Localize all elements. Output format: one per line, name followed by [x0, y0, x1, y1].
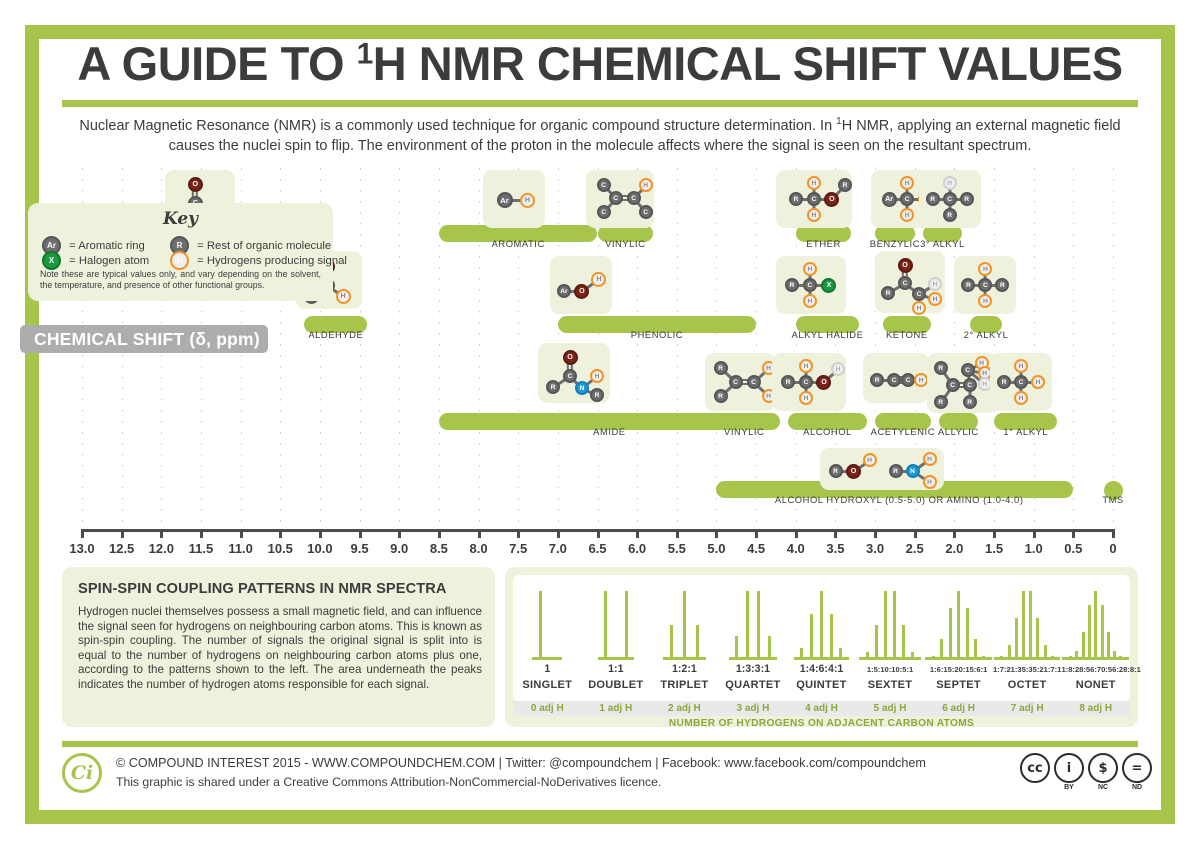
- peak-line: [1015, 618, 1018, 659]
- peak-line: [539, 591, 542, 659]
- peak-line: [1008, 645, 1011, 659]
- atom-c: C: [978, 278, 992, 292]
- peak-line: [884, 591, 887, 659]
- multiplet-singlet: 1SINGLET: [513, 575, 582, 701]
- peak-line: [1075, 651, 1078, 659]
- peak-line: [875, 625, 878, 659]
- atom-r: R: [995, 278, 1009, 292]
- atom-o: O: [816, 375, 831, 390]
- key-note: Note these are typical values only, and …: [40, 269, 321, 291]
- multiplet-name: OCTET: [993, 679, 1062, 691]
- axis-tick-label: 8.0: [459, 541, 499, 556]
- peak-line: [949, 608, 952, 659]
- axis-tick: [279, 529, 282, 538]
- atom-c: C: [729, 375, 743, 389]
- atom-h: H: [831, 362, 845, 376]
- atom-c: C: [887, 373, 901, 387]
- adjacent-h-row: 0 adj H1 adj H2 adj H3 adj H4 adj H5 adj…: [513, 701, 1130, 716]
- cc-badge-nc: $: [1088, 753, 1118, 783]
- coupling-text-panel: SPIN-SPIN COUPLING PATTERNS IN NMR SPECT…: [62, 567, 495, 727]
- multiplet-quintet: 1:4:6:4:1QUINTET: [787, 575, 856, 701]
- title-divider: [62, 100, 1138, 107]
- axis-tick-label: 8.5: [419, 541, 459, 556]
- multiplet-ratio: 1:5:10:10:5:1: [856, 665, 925, 674]
- multiplet-ratio: 1:2:1: [650, 663, 719, 675]
- atom-r: R: [943, 208, 957, 222]
- key-title: Key: [28, 209, 333, 229]
- adjacent-h-title: NUMBER OF HYDROGENS ON ADJACENT CARBON A…: [513, 718, 1130, 729]
- multiplet-septet: 1:6:15:20:15:6:1SEPTET: [924, 575, 993, 701]
- axis-tick: [953, 529, 956, 538]
- atom-c: C: [747, 375, 761, 389]
- atom-h: H: [803, 294, 817, 308]
- cc-badge-cc: cc: [1020, 753, 1050, 783]
- axis-tick: [517, 529, 520, 538]
- multiplet-name: SEXTET: [856, 679, 925, 691]
- atom-n: N: [575, 381, 589, 395]
- coupling-body: Hydrogen nuclei themselves possess a sma…: [78, 605, 482, 693]
- atom-r: R: [889, 464, 903, 478]
- gridline: [716, 168, 717, 523]
- peak-line: [982, 656, 985, 659]
- atom-r: R: [714, 389, 728, 403]
- atom-r: R: [838, 178, 852, 192]
- atom-h: H: [639, 178, 653, 192]
- peak-line: [1022, 591, 1025, 659]
- multiplet-doublet: 1:1DOUBLET: [582, 575, 651, 701]
- multiplet-peaks: [650, 589, 719, 659]
- gridline: [756, 168, 757, 523]
- atom-h: H: [978, 294, 992, 308]
- axis-tick-label: 7.0: [538, 541, 578, 556]
- atom-h: H: [900, 176, 914, 190]
- atom-r: R: [997, 375, 1011, 389]
- atom-c: C: [597, 178, 611, 192]
- axis-tick: [834, 529, 837, 538]
- atom-r: R: [963, 395, 977, 409]
- atom-o: O: [898, 258, 913, 273]
- axis-tick: [874, 529, 877, 538]
- gridline: [479, 168, 480, 523]
- molecule-alkyl-2: HRCRH: [954, 256, 1016, 314]
- atom-c: C: [799, 375, 813, 389]
- atom-o: O: [824, 192, 839, 207]
- atom-c: C: [961, 363, 975, 377]
- peak-line: [1029, 591, 1032, 659]
- multiplet-peaks: [719, 589, 788, 659]
- axis-tick-label: 10.5: [260, 541, 300, 556]
- axis-tick-label: 5.0: [696, 541, 736, 556]
- gridline: [399, 168, 400, 523]
- adjacent-h-count: 2 adj H: [650, 701, 719, 716]
- footer-licence: This graphic is shared under a Creative …: [116, 775, 1046, 789]
- atom-c: C: [639, 205, 653, 219]
- atom-h: H: [591, 272, 606, 287]
- atom-r: R: [934, 361, 948, 375]
- peak-line: [810, 614, 813, 659]
- multiplet-peaks: [856, 589, 925, 659]
- peak-line: [1000, 656, 1003, 659]
- range-label: 3° ALKYL: [822, 238, 1062, 249]
- atom-c: C: [901, 373, 915, 387]
- peak-line: [1082, 632, 1085, 659]
- axis-tick: [715, 529, 718, 538]
- molecule-alkyl-1: HRCHH: [990, 353, 1052, 411]
- atom-c: C: [912, 287, 926, 301]
- cc-badge-label: NC: [1088, 784, 1118, 791]
- atom-ar: Ar: [497, 192, 513, 208]
- molecule-vinylic-bottom: RCCHRH: [705, 353, 775, 411]
- multiplet-ratio: 1:6:15:20:15:6:1: [924, 665, 993, 674]
- axis-tick-label: 12.5: [102, 541, 142, 556]
- axis-tick: [478, 529, 481, 538]
- multiplicity-chart: 1SINGLET1:1DOUBLET1:2:1TRIPLET1:3:3:1QUA…: [513, 575, 1130, 701]
- multiplet-peaks: [787, 589, 856, 659]
- atom-h: H: [900, 208, 914, 222]
- atom-h: H: [520, 193, 535, 208]
- atom-r: R: [789, 192, 803, 206]
- axis-tick-label: 11.5: [181, 541, 221, 556]
- adjacent-h-count: 5 adj H: [856, 701, 925, 716]
- molecule-alkyl-3: HRCRR: [919, 170, 981, 228]
- atom-r: R: [934, 395, 948, 409]
- peak-line: [800, 648, 803, 659]
- multiplet-name: TRIPLET: [650, 679, 719, 691]
- atom-ar: Ar: [882, 192, 897, 207]
- multiplet-name: DOUBLET: [582, 679, 651, 691]
- axis-tick-label: 3.5: [815, 541, 855, 556]
- multiplet-triplet: 1:2:1TRIPLET: [650, 575, 719, 701]
- axis-tick-label: 5.5: [657, 541, 697, 556]
- axis-tick: [557, 529, 560, 538]
- peak-line: [957, 591, 960, 659]
- axis-tick: [914, 529, 917, 538]
- atom-c: C: [609, 191, 623, 205]
- adjacent-h-count: 8 adj H: [1061, 701, 1130, 716]
- gridline: [677, 168, 678, 523]
- atom-c: C: [597, 205, 611, 219]
- footer-credits: © COMPOUND INTEREST 2015 - WWW.COMPOUNDC…: [116, 756, 1046, 770]
- peak-line: [1044, 645, 1047, 659]
- atom-o: O: [563, 350, 578, 365]
- peak-line: [911, 652, 914, 659]
- molecule-alkyl-halide: HRCXH: [776, 256, 846, 314]
- atom-c: C: [963, 378, 977, 392]
- gridline: [360, 168, 361, 523]
- gridline: [1073, 168, 1074, 523]
- atom-r: R: [926, 192, 940, 206]
- peak-line: [735, 636, 738, 659]
- infographic-root: A GUIDE TO 1H NMR CHEMICAL SHIFT VALUES …: [0, 0, 1200, 849]
- atom-h: H: [807, 208, 821, 222]
- multiplet-quartet: 1:3:3:1QUARTET: [719, 575, 788, 701]
- coupling-heading: SPIN-SPIN COUPLING PATTERNS IN NMR SPECT…: [78, 581, 483, 597]
- peak-line: [974, 639, 977, 659]
- multiplet-peaks: [924, 589, 993, 659]
- multiplet-ratio: 1: [513, 663, 582, 675]
- peak-line: [902, 625, 905, 659]
- molecule-alcohol: HRCOHH: [772, 353, 846, 411]
- axis-tick-label: 1.0: [1014, 541, 1054, 556]
- peak-line: [1113, 651, 1116, 659]
- axis-tick: [398, 529, 401, 538]
- peak-line: [820, 591, 823, 659]
- axis-tick-label: 0: [1093, 541, 1133, 556]
- peak-line: [746, 591, 749, 659]
- axis-tick: [795, 529, 798, 538]
- axis-tick: [1033, 529, 1036, 538]
- cc-badge-by: i: [1054, 753, 1084, 783]
- multiplet-name: SINGLET: [513, 679, 582, 691]
- axis-tick: [1112, 529, 1115, 538]
- axis-tick: [438, 529, 441, 538]
- axis-tick: [319, 529, 322, 538]
- peak-line: [1036, 618, 1039, 659]
- molecule-aromatic: ArH: [483, 170, 545, 228]
- axis-tick-label: 4.5: [736, 541, 776, 556]
- tms-label: TMS: [1093, 494, 1133, 505]
- atom-r: R: [590, 388, 604, 402]
- axis-tick: [81, 529, 84, 538]
- peak-line: [966, 608, 969, 659]
- axis-tick-label: 10.0: [300, 541, 340, 556]
- axis-tick-label: 2.0: [934, 541, 974, 556]
- atom-h: H: [1031, 375, 1045, 389]
- axis-tick: [755, 529, 758, 538]
- peak-line: [893, 591, 896, 659]
- adjacent-h-count: 0 adj H: [513, 701, 582, 716]
- cc-badge-label: ND: [1122, 784, 1152, 791]
- key-label-hydrogen: = Hydrogens producing signal: [197, 255, 347, 267]
- molecule-allylic: RCCCRRHHH: [927, 353, 997, 413]
- axis-tick-label: 9.5: [340, 541, 380, 556]
- adjacent-h-count: 7 adj H: [993, 701, 1062, 716]
- atom-r: R: [960, 192, 974, 206]
- molecule-phenolic: ArOH: [550, 256, 612, 314]
- multiplet-peaks: [582, 589, 651, 659]
- peak-line: [1094, 591, 1097, 659]
- compound-interest-logo: Ci: [62, 753, 102, 793]
- axis-tick: [597, 529, 600, 538]
- peak-line: [696, 625, 699, 659]
- gridline: [994, 168, 995, 523]
- molecule-hydroxyl-amino: ROHRNHH: [820, 448, 944, 490]
- atom-c: C: [898, 276, 912, 290]
- axis-tick-label: 7.5: [498, 541, 538, 556]
- peak-line: [1107, 632, 1110, 659]
- gridline: [1034, 168, 1035, 523]
- atom-ar: Ar: [557, 284, 571, 298]
- adjacent-h-count: 3 adj H: [719, 701, 788, 716]
- peak-line: [1069, 656, 1072, 659]
- atom-h: H: [928, 277, 942, 291]
- multiplet-ratio: 1:1: [582, 663, 651, 675]
- atom-r: R: [961, 278, 975, 292]
- atom-x: X: [821, 278, 836, 293]
- axis-tick: [359, 529, 362, 538]
- axis-tick-label: 13.0: [62, 541, 102, 556]
- cc-badge-label: BY: [1054, 784, 1084, 791]
- multiplet-peaks: [1061, 589, 1130, 659]
- axis-tick-label: 6.0: [617, 541, 657, 556]
- multiplicity-panel: 1SINGLET1:1DOUBLET1:2:1TRIPLET1:3:3:1QUA…: [505, 567, 1138, 727]
- multiplet-octet: 1:7:21:35:35:21:7:1OCTET: [993, 575, 1062, 701]
- peak-line: [940, 639, 943, 659]
- peak-line: [757, 591, 760, 659]
- axis-tick-label: 9.0: [379, 541, 419, 556]
- peak-line: [768, 636, 771, 659]
- gridline: [1113, 168, 1114, 523]
- key-label-aromatic: = Aromatic ring: [69, 240, 145, 252]
- axis-tick-label: 12.0: [141, 541, 181, 556]
- axis-tick-label: 0.5: [1053, 541, 1093, 556]
- peak-line: [830, 614, 833, 659]
- adjacent-h-count: 6 adj H: [924, 701, 993, 716]
- multiplet-ratio: 1:8:28:56:70:56:28:8:1: [1061, 665, 1130, 674]
- atom-r: R: [870, 373, 884, 387]
- atom-r: R: [785, 278, 799, 292]
- axis-tick: [993, 529, 996, 538]
- axis-tick-label: 2.5: [895, 541, 935, 556]
- atom-n: N: [906, 464, 920, 478]
- atom-h: H: [923, 475, 937, 489]
- peak-line: [683, 591, 686, 659]
- cc-badge-nd: =: [1122, 753, 1152, 783]
- peak-line: [1101, 605, 1104, 659]
- atom-c: C: [563, 369, 577, 383]
- ppm-axis: 13.012.512.011.511.010.510.09.59.08.58.0…: [62, 529, 1138, 559]
- key-label-rest: = Rest of organic molecule: [197, 240, 331, 252]
- axis-tick: [676, 529, 679, 538]
- adjacent-h-count: 1 adj H: [582, 701, 651, 716]
- range-label: ALCOHOL HYDROXYL (0.5-5.0) OR AMINO (1.0…: [775, 494, 1015, 505]
- atom-r: R: [714, 361, 728, 375]
- atom-h: H: [863, 453, 877, 467]
- multiplet-ratio: 1:7:21:35:35:21:7:1: [993, 665, 1062, 674]
- signal-hydrogen-icon: H: [170, 251, 189, 270]
- atom-h: H: [799, 391, 813, 405]
- multiplet-ratio: 1:3:3:1: [719, 663, 788, 675]
- chemical-shift-band-label: CHEMICAL SHIFT (δ, ppm): [20, 325, 268, 353]
- range-label: 1° ALKYL: [906, 426, 1146, 437]
- multiplet-peaks: [513, 589, 582, 659]
- axis-tick-label: 1.5: [974, 541, 1014, 556]
- atom-r: R: [881, 286, 895, 300]
- peak-line: [1051, 656, 1054, 659]
- atom-h: H: [799, 359, 813, 373]
- axis-tick-label: 4.0: [776, 541, 816, 556]
- multiplet-name: QUINTET: [787, 679, 856, 691]
- multiplet-peaks: [993, 589, 1062, 659]
- molecule-vinylic-top: CCCHCC: [586, 170, 654, 228]
- peak-line: [839, 648, 842, 659]
- atom-h: H: [912, 301, 926, 315]
- peak-line: [866, 652, 869, 659]
- atom-r: R: [829, 464, 843, 478]
- range-label: 2° ALKYL: [866, 329, 1106, 340]
- atom-r: R: [546, 380, 560, 394]
- atom-h: H: [1014, 359, 1028, 373]
- peak-line: [1088, 605, 1091, 659]
- axis-tick: [1072, 529, 1075, 538]
- peak-line: [932, 656, 935, 659]
- peak-line: [1119, 656, 1122, 659]
- atom-c: C: [943, 192, 957, 206]
- atom-c: C: [1014, 375, 1028, 389]
- peak-line: [670, 625, 673, 659]
- axis-tick: [636, 529, 639, 538]
- molecule-acetylenic: RCCH: [863, 353, 929, 403]
- atom-c: C: [946, 378, 960, 392]
- molecule-ether: HRCORH: [776, 170, 852, 228]
- multiplet-sextet: 1:5:10:10:5:1SEXTET: [856, 575, 925, 701]
- atom-h: H: [336, 289, 351, 304]
- atom-o: O: [574, 284, 589, 299]
- adjacent-h-count: 4 adj H: [787, 701, 856, 716]
- atom-c: C: [807, 192, 821, 206]
- multiplet-nonet: 1:8:28:56:70:56:28:8:1NONET: [1061, 575, 1130, 701]
- atom-r: R: [781, 375, 795, 389]
- atom-h: H: [1014, 391, 1028, 405]
- peak-line: [625, 591, 628, 659]
- atom-h: H: [943, 176, 957, 190]
- axis-tick-label: 3.0: [855, 541, 895, 556]
- multiplet-name: SEPTET: [924, 679, 993, 691]
- atom-c: C: [627, 191, 641, 205]
- atom-o: O: [188, 177, 203, 192]
- axis-tick-label: 11.0: [221, 541, 261, 556]
- key-label-halogen: = Halogen atom: [69, 255, 149, 267]
- atom-h: H: [803, 262, 817, 276]
- page-title: A GUIDE TO 1H NMR CHEMICAL SHIFT VALUES: [39, 38, 1161, 90]
- multiplet-name: QUARTET: [719, 679, 788, 691]
- molecule-amide: OCRNHR: [538, 343, 610, 403]
- multiplet-name: NONET: [1061, 679, 1130, 691]
- atom-o: O: [846, 464, 861, 479]
- atom-h: H: [807, 176, 821, 190]
- peak-line: [604, 591, 607, 659]
- atom-h: H: [923, 452, 937, 466]
- halogen-atom-icon: X: [42, 251, 61, 270]
- axis-tick: [121, 529, 124, 538]
- gridline: [439, 168, 440, 523]
- axis-tick: [240, 529, 243, 538]
- atom-c: C: [803, 278, 817, 292]
- atom-h: H: [978, 262, 992, 276]
- axis-tick: [200, 529, 203, 538]
- multiplet-ratio: 1:4:6:4:1: [787, 663, 856, 675]
- axis-tick: [160, 529, 163, 538]
- intro-paragraph: Nuclear Magnetic Resonance (NMR) is a co…: [62, 116, 1138, 156]
- atom-c: C: [900, 192, 914, 206]
- key-box: Key Ar = Aromatic ring R = Rest of organ…: [28, 203, 333, 301]
- atom-h: H: [928, 292, 942, 306]
- footer-divider: [62, 741, 1138, 747]
- atom-h: H: [590, 369, 604, 383]
- axis-tick-label: 6.5: [578, 541, 618, 556]
- molecule-ketone: OCRCHHH: [875, 251, 945, 313]
